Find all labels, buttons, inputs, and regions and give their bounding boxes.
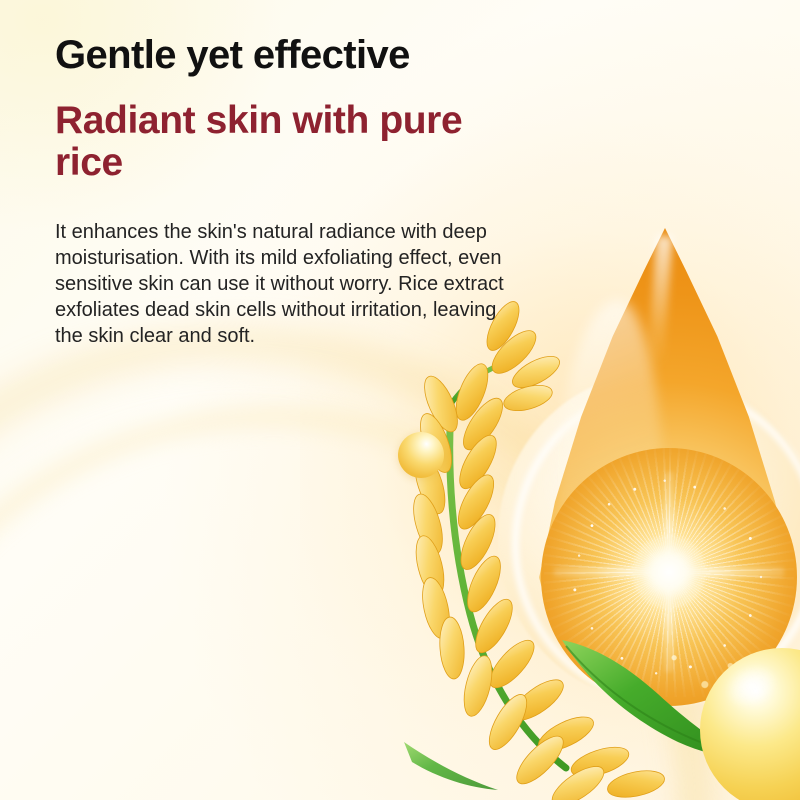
eyebrow-heading: Gentle yet effective: [55, 34, 535, 76]
page-title: Radiant skin with pure rice: [55, 100, 475, 183]
product-promo-poster: Gentle yet effective Radiant skin with p…: [0, 0, 800, 800]
copy-block: Gentle yet effective Radiant skin with p…: [55, 34, 535, 349]
body-paragraph: It enhances the skin's natural radiance …: [55, 219, 525, 349]
